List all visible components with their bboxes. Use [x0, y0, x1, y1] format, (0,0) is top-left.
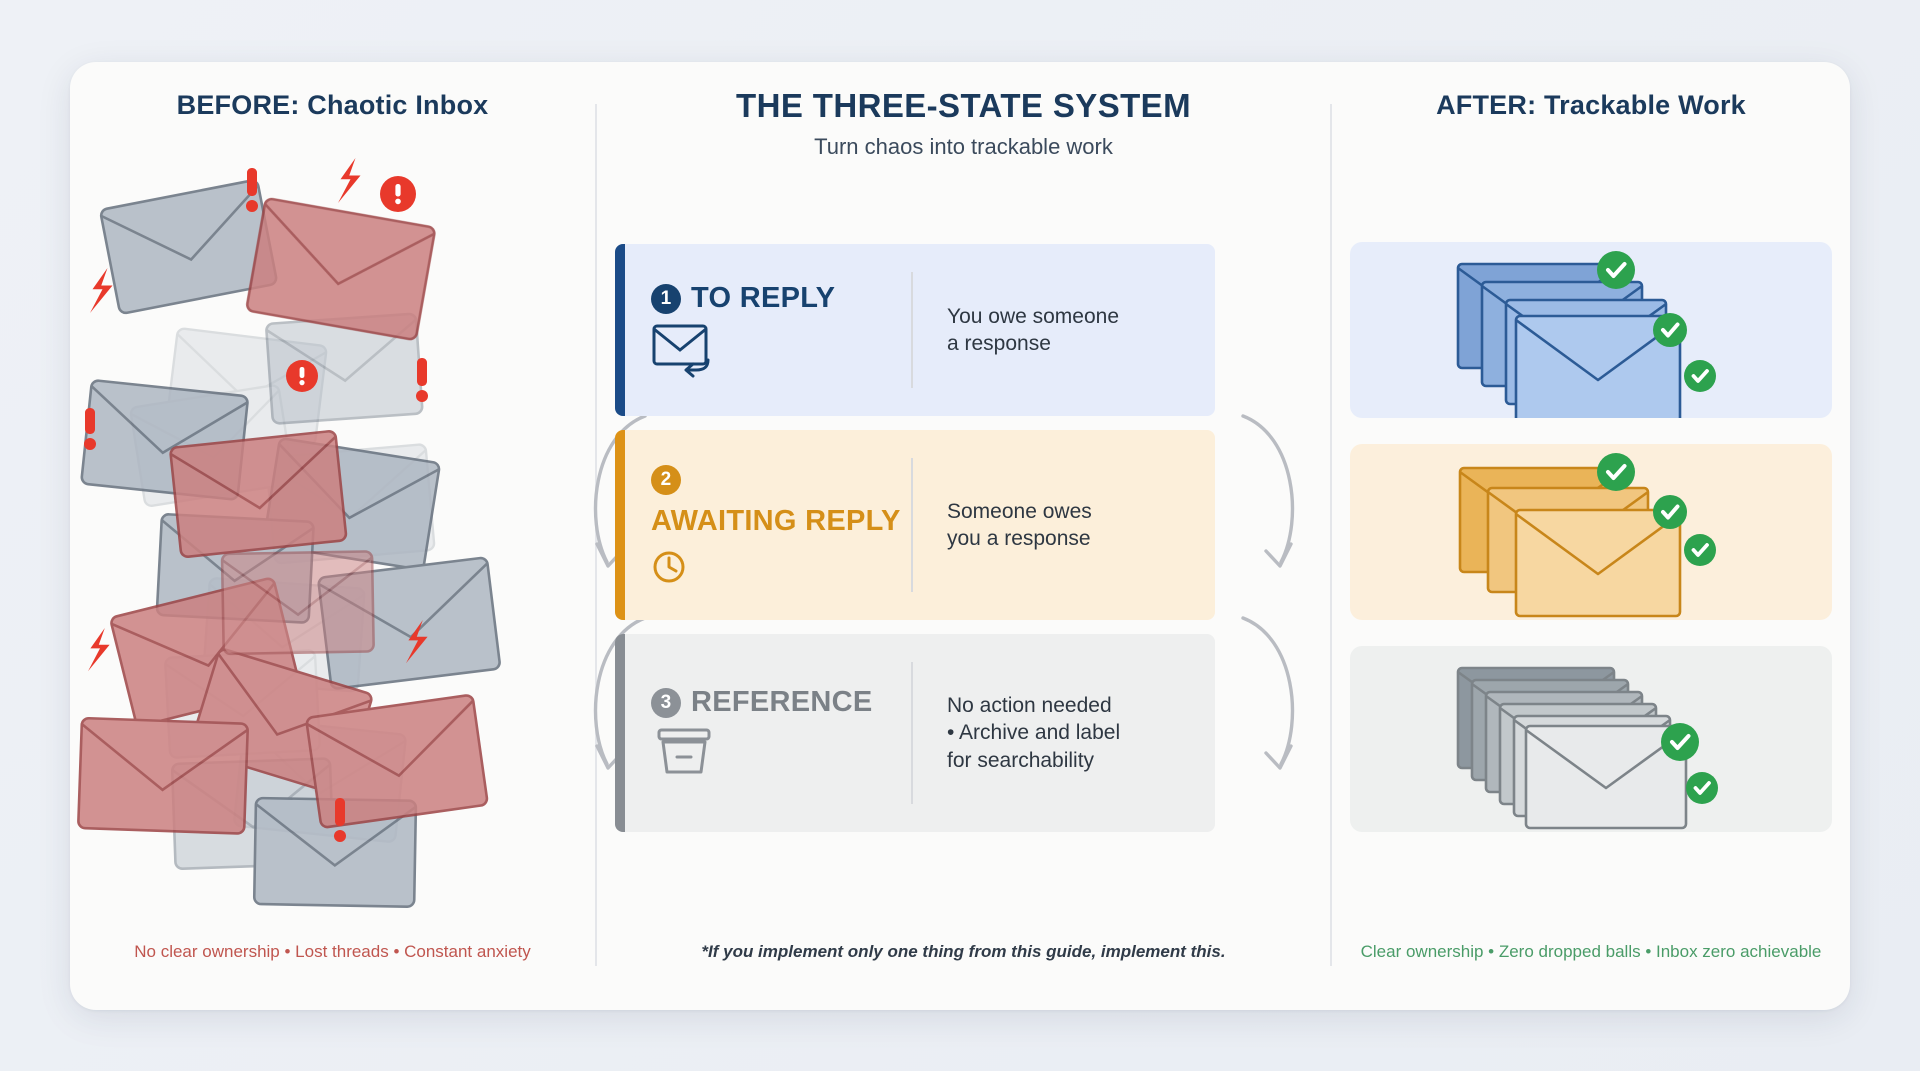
state-accent-bar [615, 244, 625, 416]
connector-arrow-right-2 [1223, 612, 1313, 812]
system-footnote: *If you implement only one thing from th… [597, 942, 1330, 962]
state-card-awaiting-reply[interactable]: 2 AWAITING REPLY Someone owes you a resp… [615, 430, 1215, 620]
system-subtitle: Turn chaos into trackable work [597, 134, 1330, 160]
state-desc-pane: Someone owes you a response [913, 498, 1215, 553]
state-accent-bar [615, 634, 625, 832]
archive-box-icon [651, 724, 717, 780]
state-name-row: 3 REFERENCE [651, 686, 911, 720]
infographic-board: BEFORE: Chaotic Inbox [70, 62, 1850, 1010]
blue-envelope-stack-icon [1350, 242, 1832, 418]
state-accent-bar [615, 430, 625, 620]
state-name-row: 1 TO REPLY [651, 282, 911, 316]
after-stack-awaiting-reply [1350, 444, 1832, 620]
before-column-title: BEFORE: Chaotic Inbox [70, 90, 595, 121]
state-number-badge: 3 [651, 688, 681, 718]
after-column: AFTER: Trackable Work [1332, 62, 1850, 1010]
state-name-row: 2 AWAITING REPLY [651, 465, 911, 585]
state-card-reference[interactable]: 3 REFERENCE No action needed • Archive a… [615, 634, 1215, 832]
after-stack-reference [1350, 646, 1832, 832]
connector-arrow-right-1 [1223, 410, 1313, 610]
infographic-root: BEFORE: Chaotic Inbox [0, 0, 1920, 1071]
gray-envelope-stack-icon [1350, 646, 1832, 832]
state-description: No action needed • Archive and label for… [947, 692, 1199, 774]
state-desc-pane: You owe someone a response [913, 303, 1215, 358]
state-description: You owe someone a response [947, 303, 1199, 358]
state-number-badge: 1 [651, 284, 681, 314]
chaotic-inbox-illustration [70, 158, 595, 918]
after-column-title: AFTER: Trackable Work [1332, 90, 1850, 121]
before-column-footer: No clear ownership • Lost threads • Cons… [70, 942, 595, 962]
state-label-pane: 2 AWAITING REPLY [625, 465, 911, 585]
after-column-footer: Clear ownership • Zero dropped balls • I… [1332, 942, 1850, 962]
chaos-envelopes-svg [70, 158, 595, 918]
state-desc-pane: No action needed • Archive and label for… [913, 692, 1215, 774]
state-card-to-reply[interactable]: 1 TO REPLY You owe someone a response [615, 244, 1215, 416]
orange-envelope-stack-icon [1350, 444, 1832, 620]
three-state-column: THE THREE-STATE SYSTEM Turn chaos into t… [597, 62, 1330, 1010]
state-description: Someone owes you a response [947, 498, 1199, 553]
envelope-reply-icon [651, 320, 729, 378]
after-stack-to-reply [1350, 242, 1832, 418]
clock-icon [651, 549, 687, 585]
system-title: THE THREE-STATE SYSTEM [597, 87, 1330, 125]
before-column: BEFORE: Chaotic Inbox [70, 62, 595, 1010]
state-name-text: REFERENCE [691, 686, 873, 720]
state-label-pane: 1 TO REPLY [625, 282, 911, 378]
state-name-text: AWAITING REPLY [651, 505, 901, 539]
state-name-text: TO REPLY [691, 282, 835, 316]
state-label-pane: 3 REFERENCE [625, 686, 911, 780]
state-number-badge: 2 [651, 465, 681, 495]
